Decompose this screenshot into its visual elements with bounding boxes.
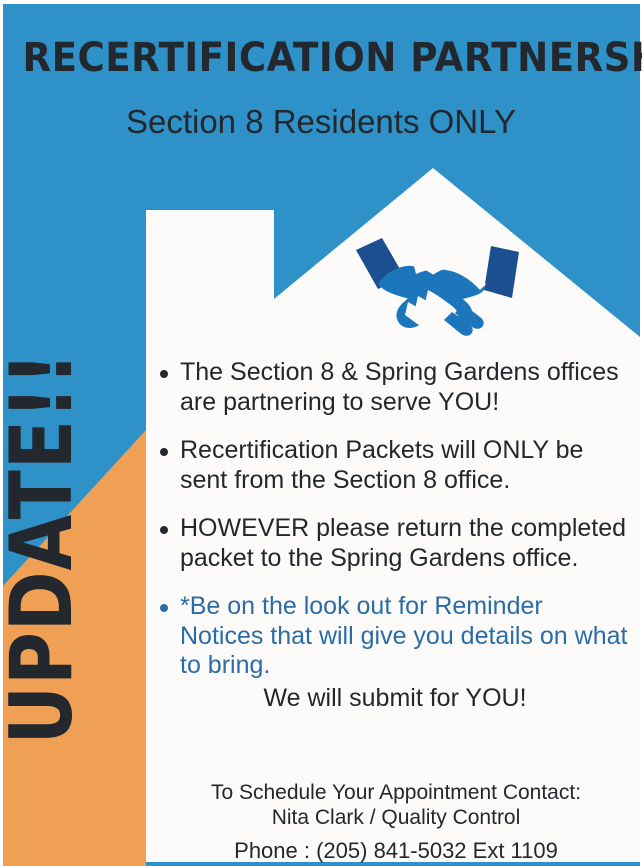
page-subtitle: Section 8 Residents ONLY <box>0 104 642 140</box>
list-item: HOWEVER please return the completed pack… <box>160 514 630 573</box>
list-item-text: Recertification Packets will ONLY be sen… <box>180 436 630 495</box>
bullet-list: The Section 8 & Spring Gardens offices a… <box>160 358 630 700</box>
handshake-icon <box>352 232 542 344</box>
bullet-dot-icon <box>160 448 168 456</box>
list-item-text: HOWEVER please return the completed pack… <box>180 514 630 573</box>
list-item-highlighted: *Be on the look out for Reminder Notices… <box>160 592 630 681</box>
contact-name: Nita Clark / Quality Control <box>150 805 642 830</box>
flyer-page: RECERTIFICATION PARTNERSHIP Section 8 Re… <box>0 0 642 866</box>
contact-phone: Phone : (205) 841-5032 Ext 1109 <box>150 836 642 866</box>
closing-statement: We will submit for YOU! <box>160 684 630 713</box>
list-item-text: The Section 8 & Spring Gardens offices a… <box>180 358 630 417</box>
page-title: RECERTIFICATION PARTNERSHIP <box>22 38 619 78</box>
bullet-dot-icon <box>160 526 168 534</box>
list-item: Recertification Packets will ONLY be sen… <box>160 436 630 495</box>
contact-instruction: To Schedule Your Appointment Contact: <box>150 780 642 805</box>
list-item-text: *Be on the look out for Reminder Notices… <box>180 592 630 681</box>
list-item: The Section 8 & Spring Gardens offices a… <box>160 358 630 417</box>
contact-block: To Schedule Your Appointment Contact: Ni… <box>150 780 642 866</box>
bullet-dot-icon <box>160 370 168 378</box>
bullet-dot-icon <box>160 604 168 612</box>
